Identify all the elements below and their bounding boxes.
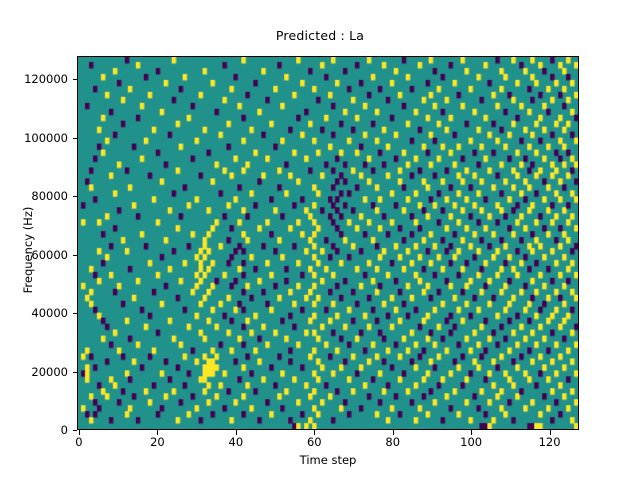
- y-tick-mark: [73, 313, 78, 314]
- y-tick-label: 20000: [0, 365, 68, 379]
- x-tick-label: 40: [229, 435, 244, 449]
- x-tick-mark: [79, 430, 80, 435]
- x-tick-mark: [157, 430, 158, 435]
- x-tick-label: 120: [539, 435, 561, 449]
- y-tick-label: 120000: [0, 72, 68, 86]
- x-tick-mark: [550, 430, 551, 435]
- y-tick-label: 60000: [0, 248, 68, 262]
- y-tick-label: 0: [0, 423, 68, 437]
- y-tick-mark: [73, 372, 78, 373]
- x-tick-mark: [393, 430, 394, 435]
- y-tick-label: 100000: [0, 131, 68, 145]
- y-tick-mark: [73, 430, 78, 431]
- spectrogram-heatmap: [78, 57, 578, 429]
- y-tick-mark: [73, 255, 78, 256]
- x-tick-mark: [471, 430, 472, 435]
- x-tick-label: 60: [307, 435, 322, 449]
- x-axis-label: Time step: [77, 453, 579, 467]
- y-tick-mark: [73, 138, 78, 139]
- plot-title: Predicted : La: [0, 28, 640, 43]
- heatmap-axes[interactable]: [77, 56, 579, 430]
- x-tick-mark: [236, 430, 237, 435]
- figure-canvas: Predicted : La Time step Frequency (Hz) …: [0, 0, 640, 480]
- x-tick-label: 20: [150, 435, 165, 449]
- y-tick-mark: [73, 79, 78, 80]
- y-tick-label: 80000: [0, 189, 68, 203]
- x-tick-mark: [314, 430, 315, 435]
- x-tick-label: 0: [75, 435, 82, 449]
- x-tick-label: 80: [385, 435, 400, 449]
- y-tick-mark: [73, 196, 78, 197]
- y-tick-label: 40000: [0, 306, 68, 320]
- x-tick-label: 100: [460, 435, 482, 449]
